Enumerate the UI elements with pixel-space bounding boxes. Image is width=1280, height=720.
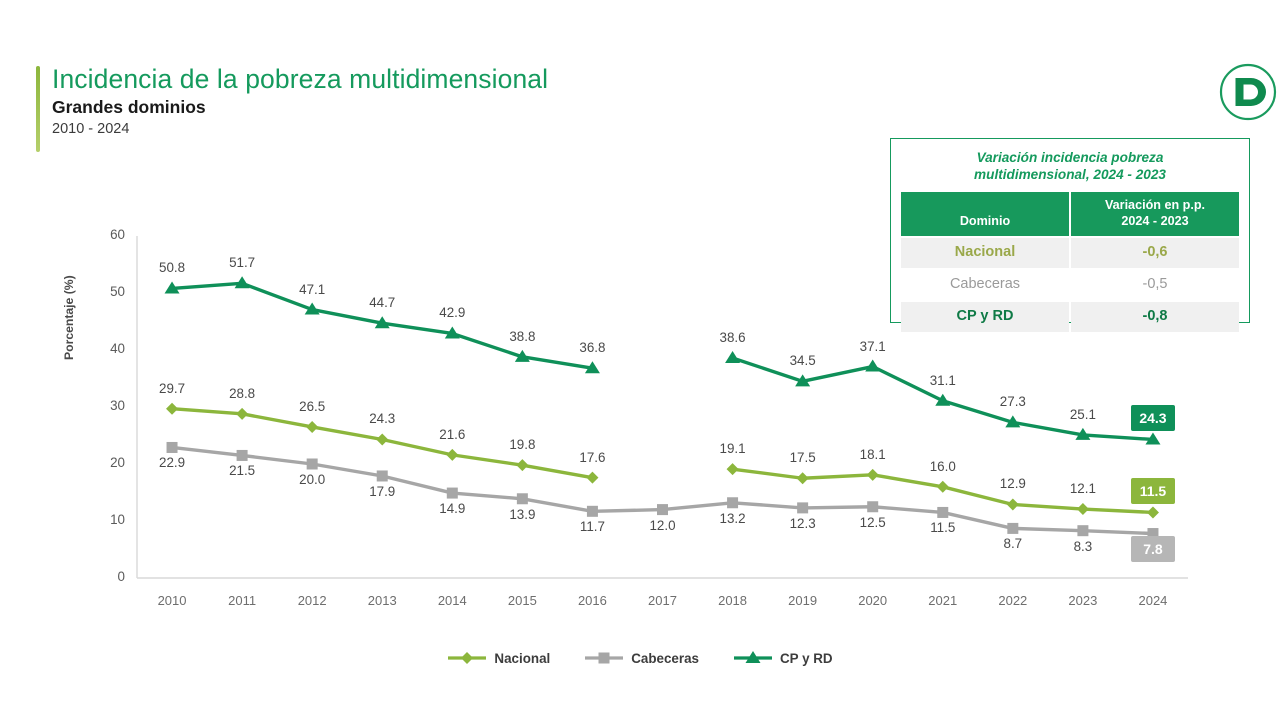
data-label: 38.8 <box>499 329 545 344</box>
data-label: 18.1 <box>850 447 896 462</box>
legend-marker-diamond-icon <box>447 650 487 666</box>
data-label: 12.0 <box>640 518 686 533</box>
x-axis-tick: 2016 <box>562 593 622 608</box>
data-label: 16.0 <box>920 459 966 474</box>
data-label: 20.0 <box>289 472 335 487</box>
data-label: 29.7 <box>149 381 195 396</box>
x-axis-tick: 2022 <box>983 593 1043 608</box>
data-label: 13.2 <box>710 511 756 526</box>
data-label: 14.9 <box>429 501 475 516</box>
data-label: 51.7 <box>219 255 265 270</box>
data-label: 12.3 <box>780 516 826 531</box>
y-axis-tick: 50 <box>91 284 125 299</box>
data-label: 28.8 <box>219 386 265 401</box>
data-label: 42.9 <box>429 305 475 320</box>
data-label: 13.9 <box>499 507 545 522</box>
data-label: 31.1 <box>920 373 966 388</box>
x-axis-tick: 2018 <box>703 593 763 608</box>
x-axis-tick: 2020 <box>843 593 903 608</box>
legend-marker-square-icon <box>584 650 624 666</box>
legend-label: Cabeceras <box>631 651 699 666</box>
data-label-badge: 11.5 <box>1131 478 1175 504</box>
x-axis-tick: 2014 <box>422 593 482 608</box>
line-chart: Porcentaje (%) 0102030405060201020112012… <box>0 0 1280 720</box>
data-label: 26.5 <box>289 399 335 414</box>
data-label: 19.1 <box>710 441 756 456</box>
x-axis-tick: 2011 <box>212 593 272 608</box>
plot-area <box>0 0 1280 720</box>
x-axis-tick: 2015 <box>492 593 552 608</box>
x-axis-tick: 2017 <box>633 593 693 608</box>
y-axis-tick: 0 <box>91 569 125 584</box>
data-label: 27.3 <box>990 394 1036 409</box>
x-axis-tick: 2021 <box>913 593 973 608</box>
data-label: 17.9 <box>359 484 405 499</box>
legend-item-nacional[interactable]: Nacional <box>447 650 550 666</box>
legend-label: CP y RD <box>780 651 833 666</box>
data-label: 11.7 <box>569 519 615 534</box>
data-label: 37.1 <box>850 339 896 354</box>
y-axis-tick: 20 <box>91 455 125 470</box>
data-label: 8.7 <box>990 536 1036 551</box>
y-axis-tick: 40 <box>91 341 125 356</box>
x-axis-tick: 2023 <box>1053 593 1113 608</box>
data-label: 34.5 <box>780 353 826 368</box>
data-label: 8.3 <box>1060 539 1106 554</box>
chart-legend: NacionalCabecerasCP y RD <box>0 650 1280 666</box>
y-axis-tick: 30 <box>91 398 125 413</box>
data-label: 12.1 <box>1060 481 1106 496</box>
legend-item-cp-y-rd[interactable]: CP y RD <box>733 650 833 666</box>
y-axis-tick: 10 <box>91 512 125 527</box>
y-axis-tick: 60 <box>91 227 125 242</box>
x-axis-tick: 2019 <box>773 593 833 608</box>
data-label: 12.9 <box>990 476 1036 491</box>
data-label: 36.8 <box>569 340 615 355</box>
data-label: 11.5 <box>920 520 966 535</box>
x-axis-tick: 2024 <box>1123 593 1183 608</box>
data-label: 17.6 <box>569 450 615 465</box>
data-label: 21.5 <box>219 463 265 478</box>
data-label: 47.1 <box>289 282 335 297</box>
x-axis-tick: 2012 <box>282 593 342 608</box>
legend-marker-triangle-icon <box>733 650 773 666</box>
data-label: 21.6 <box>429 427 475 442</box>
data-label: 50.8 <box>149 260 195 275</box>
legend-item-cabeceras[interactable]: Cabeceras <box>584 650 699 666</box>
data-label: 24.3 <box>359 411 405 426</box>
legend-label: Nacional <box>494 651 550 666</box>
x-axis-tick: 2010 <box>142 593 202 608</box>
data-label: 44.7 <box>359 295 405 310</box>
data-label-badge: 7.8 <box>1131 536 1175 562</box>
data-label: 17.5 <box>780 450 826 465</box>
data-label: 22.9 <box>149 455 195 470</box>
series-cp-y-rd <box>165 276 1161 444</box>
data-label: 38.6 <box>710 330 756 345</box>
data-label: 25.1 <box>1060 407 1106 422</box>
data-label-badge: 24.3 <box>1131 405 1175 431</box>
x-axis-tick: 2013 <box>352 593 412 608</box>
data-label: 12.5 <box>850 515 896 530</box>
data-label: 19.8 <box>499 437 545 452</box>
